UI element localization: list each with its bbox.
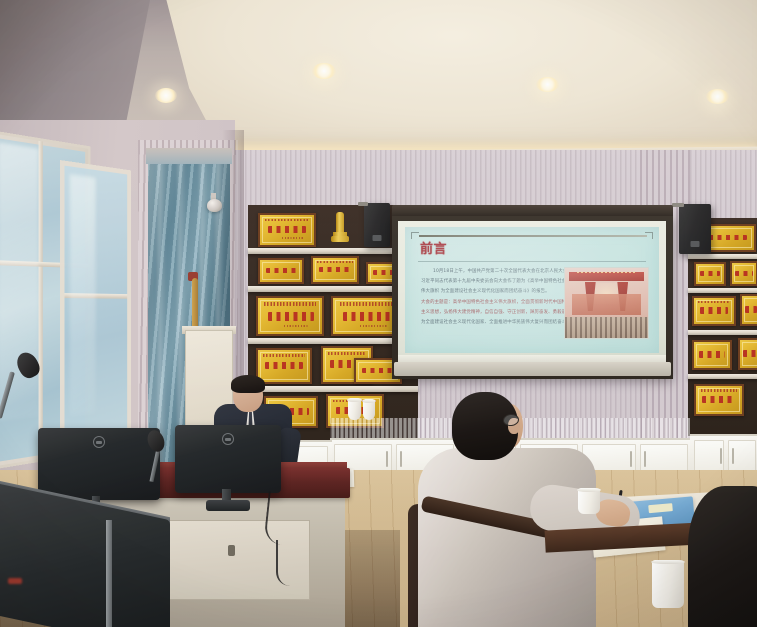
shelf-board <box>688 374 757 379</box>
cabinet-handle[interactable] <box>720 448 722 464</box>
photo-audience-seating <box>565 317 648 338</box>
award-plaque <box>738 338 757 370</box>
presenter-hair <box>231 375 265 393</box>
paper-cup-back[interactable] <box>578 488 600 514</box>
plaque-header-text <box>263 354 305 357</box>
jbl-badge <box>691 241 700 247</box>
plaque-main-text <box>362 368 394 373</box>
shelf-board <box>248 386 418 392</box>
plaque-header-text <box>328 352 366 355</box>
cabinet-handle[interactable] <box>732 448 734 464</box>
curtain-valance <box>146 148 232 164</box>
plaque-footer-text <box>360 325 387 328</box>
paper-cup-front[interactable] <box>652 560 684 608</box>
slide-body-line: 为全面建设社会主义现代化国家、全面推进中华民族伟大复兴而团结奋斗。 <box>421 318 556 328</box>
recessed-downlight-2 <box>312 63 336 79</box>
desk-cable <box>276 540 290 586</box>
photo-red-banner <box>569 272 644 281</box>
photo-stage-platform <box>572 294 642 315</box>
plaque-header-text <box>317 261 352 263</box>
shelf-board <box>688 330 757 335</box>
console-power-led <box>8 578 22 584</box>
slide-title-underline <box>418 261 646 262</box>
cup-rim <box>347 398 362 402</box>
dell-monitor-left[interactable] <box>38 428 160 500</box>
window-mullion-vertical <box>39 141 43 459</box>
cabinet-handle[interactable] <box>400 451 402 467</box>
dell-monitor-center[interactable] <box>175 425 281 493</box>
slide-body-text: 10月18日上午，中国共产党第二十次全国代表大会在北京人民大会堂开幕。 习近平同… <box>421 267 556 328</box>
podium-door-knob[interactable] <box>228 545 235 556</box>
award-plaque <box>258 258 304 284</box>
screen-bottom-roller-bar <box>394 362 671 376</box>
slide-body-line: 伟大旗帜 为全面建设社会主义现代化国家而团结奋斗》的报告。 <box>421 287 556 297</box>
plaque-main-text <box>702 396 735 403</box>
plaque-main-text <box>343 312 392 321</box>
cabinet-handle[interactable] <box>386 451 388 467</box>
plaque-footer-text <box>282 237 304 239</box>
presentation-slide: 前言 10月18日上午，中国共产党第二十次全国代表大会在北京人民大会堂开幕。 习… <box>405 227 659 353</box>
plaque-header-text <box>698 301 730 303</box>
shelf-board <box>688 288 757 293</box>
cup-rim <box>362 399 376 403</box>
plaque-main-text <box>700 271 720 276</box>
plaque-header-text <box>265 219 308 222</box>
cabinet-handle[interactable] <box>644 451 646 467</box>
lectern-mic-arm <box>192 278 198 330</box>
cabinet-handle[interactable] <box>630 451 632 467</box>
attendee-corner-silhouette <box>688 486 757 627</box>
award-plaque <box>258 213 316 247</box>
water-glass <box>363 399 375 420</box>
cup-rim <box>577 488 601 492</box>
cup-rim <box>651 560 685 564</box>
plaque-main-text <box>268 226 307 233</box>
jbl-wall-speaker-right <box>679 204 711 254</box>
plaque-main-text <box>266 268 296 273</box>
slide-photo-congress-hall <box>564 267 649 339</box>
conference-room-scene: 前言 10月18日上午，中国共产党第二十次全国代表大会在北京人民大会堂开幕。 习… <box>0 0 757 627</box>
plaque-main-text <box>745 306 757 313</box>
plaque-header-text <box>340 302 394 305</box>
jbl-wall-speaker-left <box>364 203 390 247</box>
window-light-reflection <box>70 174 96 415</box>
plaque-header-text <box>264 302 315 305</box>
water-glass <box>348 398 361 420</box>
console-support-post <box>106 520 112 627</box>
shelf-board <box>688 254 757 259</box>
recessed-downlight-4 <box>706 89 729 104</box>
award-plaque <box>692 296 736 326</box>
slide-title: 前言 <box>420 242 447 257</box>
plaque-main-text <box>743 350 757 357</box>
slide-body-line: 大会的主题是：高举中国特色社会主义伟大旗帜，全面贯彻新时代中国特色社会 <box>421 298 556 308</box>
award-plaque <box>694 384 744 416</box>
award-plaque <box>692 340 732 370</box>
recessed-downlight-3 <box>536 77 559 92</box>
speaker-bracket <box>358 202 368 206</box>
award-plaque <box>694 262 726 286</box>
award-plaque <box>256 348 312 384</box>
plaque-main-text <box>735 271 752 276</box>
monitor-base <box>206 500 250 511</box>
slide-body-line: 主义思想，弘扬伟大建党精神，自信自强、守正创新，踔厉奋发、勇毅前行， <box>421 308 556 318</box>
award-plaque <box>311 256 359 284</box>
slide-body-line: 习近平同志代表第十九届中央委员会向大会作了题为《高举中国特色社会主义 <box>421 277 556 287</box>
dell-oval-logo <box>222 433 234 445</box>
plaque-main-text <box>699 351 725 357</box>
plaque-footer-text <box>284 325 310 328</box>
dome-camera-icon <box>207 199 222 212</box>
plaque-main-text <box>709 235 746 241</box>
speaker-bracket <box>672 203 684 207</box>
slide-corner-mark <box>411 232 419 239</box>
award-plaque-large <box>256 296 324 336</box>
trophy-base <box>331 236 349 242</box>
window-left-inner <box>60 160 131 460</box>
photo-banner-caption <box>577 272 637 273</box>
award-plaque <box>730 261 757 286</box>
trophy-cup-body <box>336 212 344 234</box>
plaque-header-text <box>701 389 738 392</box>
plaque-main-text <box>700 307 729 313</box>
plaque-main-text <box>268 312 314 321</box>
plaque-main-text <box>265 362 302 370</box>
slide-top-rule <box>419 235 647 237</box>
plaque-main-text <box>319 267 351 273</box>
slide-body-line: 10月18日上午，中国共产党第二十次全国代表大会在北京人民大会堂开幕。 <box>421 267 556 277</box>
window-light-reflection <box>0 142 38 420</box>
folder-label <box>648 503 673 513</box>
award-plaque <box>740 294 757 326</box>
jbl-badge <box>373 235 382 241</box>
recessed-downlight-1 <box>155 88 177 103</box>
dell-oval-logo <box>93 436 105 448</box>
